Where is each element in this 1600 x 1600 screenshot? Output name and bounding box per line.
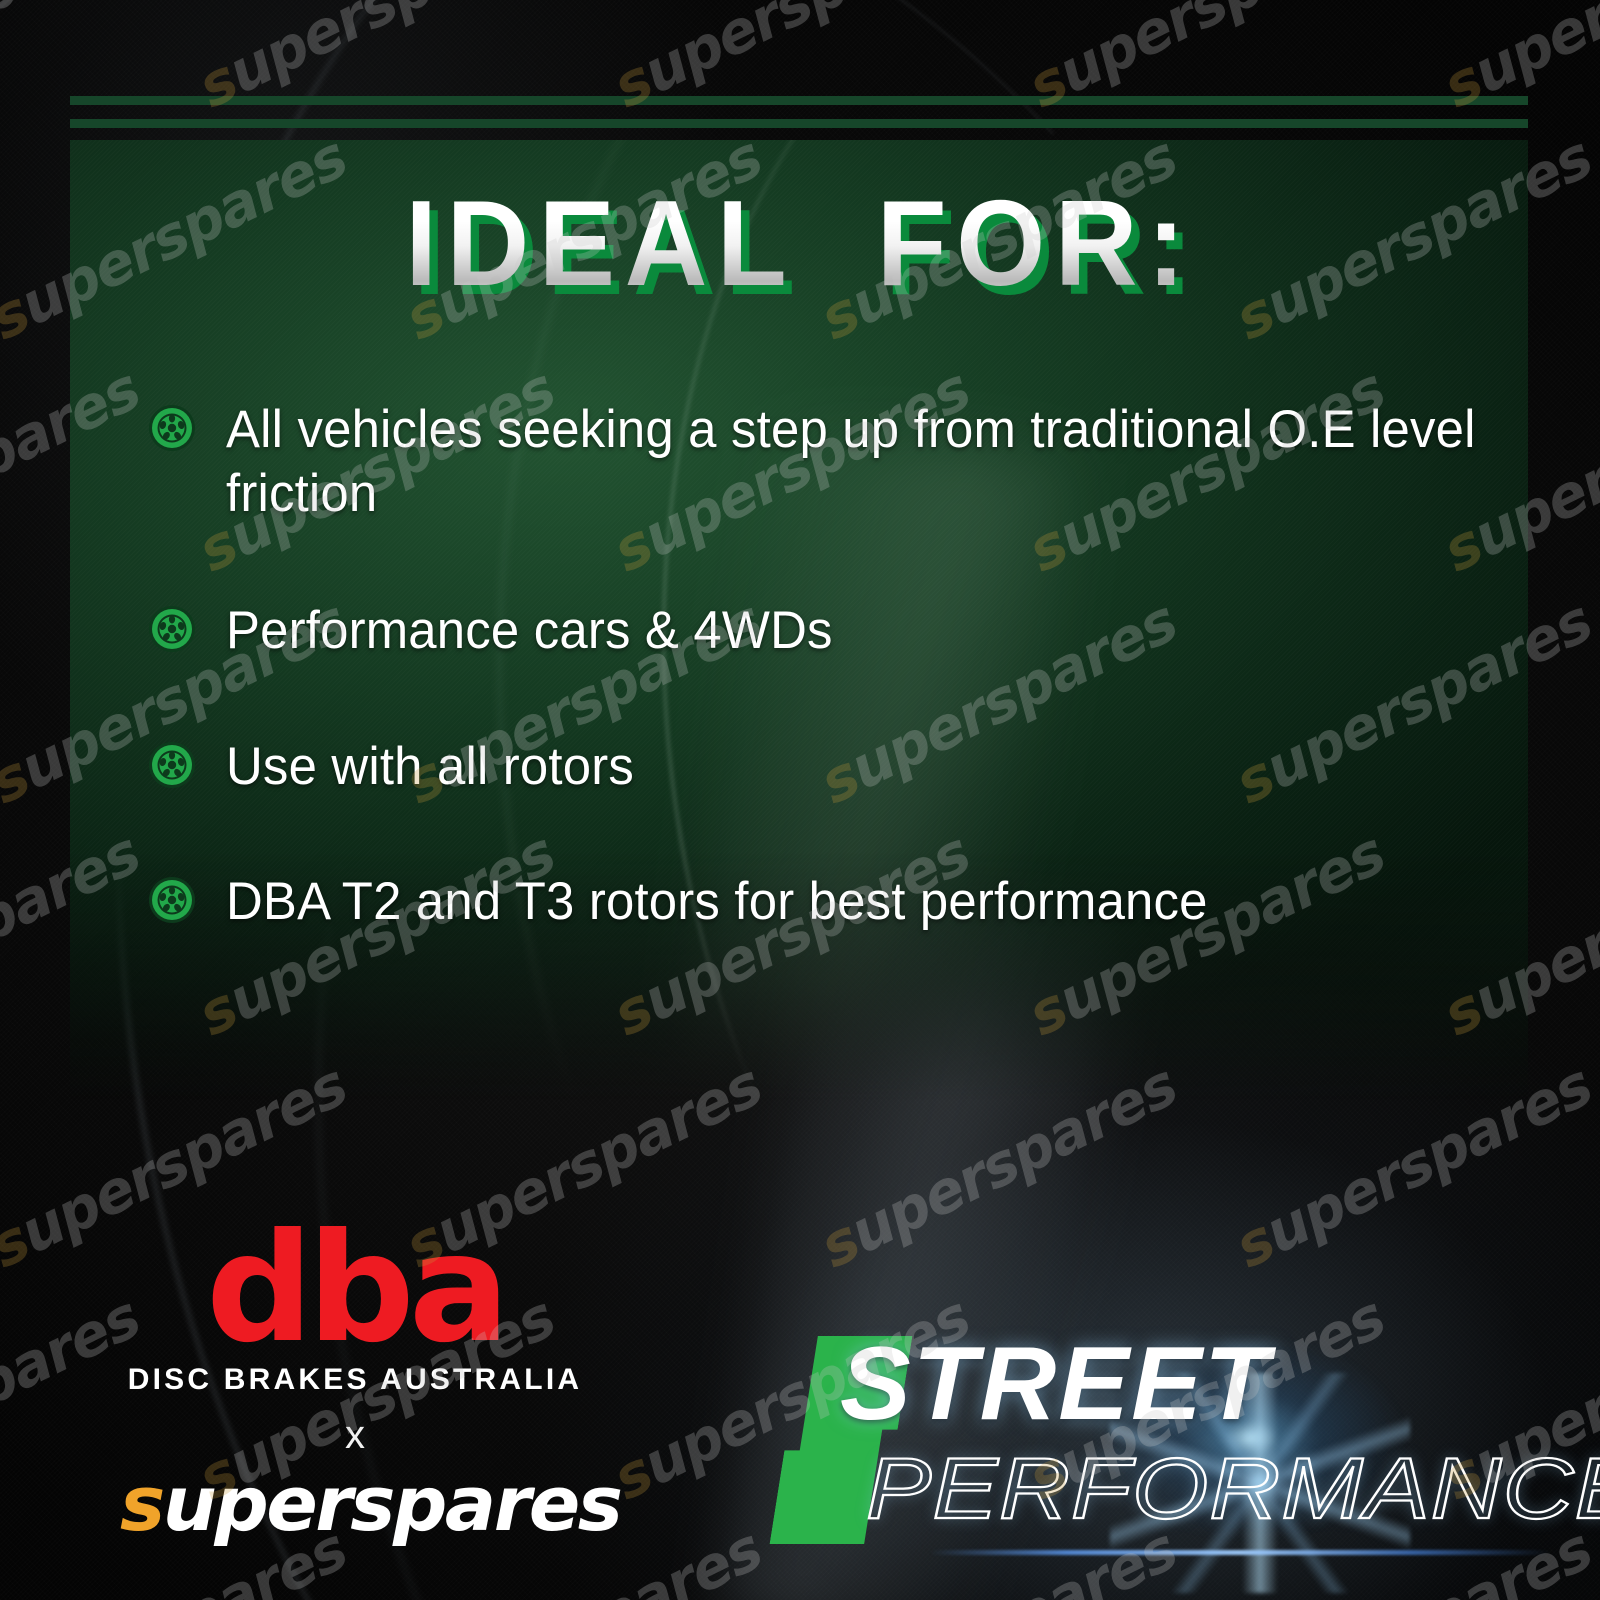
brake-rotor-icon [148, 876, 196, 924]
stripe-gap [70, 105, 1528, 119]
logo-underline-glow [930, 1550, 1550, 1555]
brake-rotor-icon [148, 741, 196, 789]
feature-list: All vehicles seeking a step up from trad… [148, 398, 1548, 934]
dba-brand-lockup: dba DISC BRAKES AUSTRALIA x superspares [120, 1228, 590, 1542]
list-item-label: Performance cars & 4WDs [226, 599, 833, 663]
superspares-logo: superspares [120, 1466, 590, 1542]
street-wordmark: STREET [840, 1332, 1271, 1436]
dba-wordmark: dba [120, 1228, 590, 1351]
street-performance-logo: STREET PERFORMANCE [780, 1318, 1570, 1568]
top-accent-stripes [70, 96, 1528, 128]
list-item: DBA T2 and T3 rotors for best performanc… [148, 870, 1548, 934]
performance-wordmark: PERFORMANCE [866, 1446, 1600, 1532]
collab-separator: x [120, 1413, 590, 1458]
dba-tagline: DISC BRAKES AUSTRALIA [120, 1363, 590, 1397]
list-item: Use with all rotors [148, 735, 1548, 799]
superspares-logo-text: uperspares [163, 1459, 621, 1548]
list-item: All vehicles seeking a step up from trad… [148, 398, 1548, 525]
accent-stripe [70, 96, 1528, 105]
brake-rotor-icon [148, 404, 196, 452]
list-item-label: Use with all rotors [226, 735, 634, 799]
page-title-text: IDEAL FOR: [405, 175, 1194, 311]
superspares-logo-initial: s [120, 1459, 163, 1548]
brake-rotor-icon [148, 605, 196, 653]
product-feature-banner: IDEAL FOR: IDEAL FOR: [0, 0, 1600, 1600]
list-item: Performance cars & 4WDs [148, 599, 1548, 663]
page-title: IDEAL FOR: IDEAL FOR: [0, 182, 1600, 304]
accent-stripe [70, 119, 1528, 128]
list-item-label: DBA T2 and T3 rotors for best performanc… [226, 870, 1208, 934]
list-item-label: All vehicles seeking a step up from trad… [226, 398, 1495, 525]
